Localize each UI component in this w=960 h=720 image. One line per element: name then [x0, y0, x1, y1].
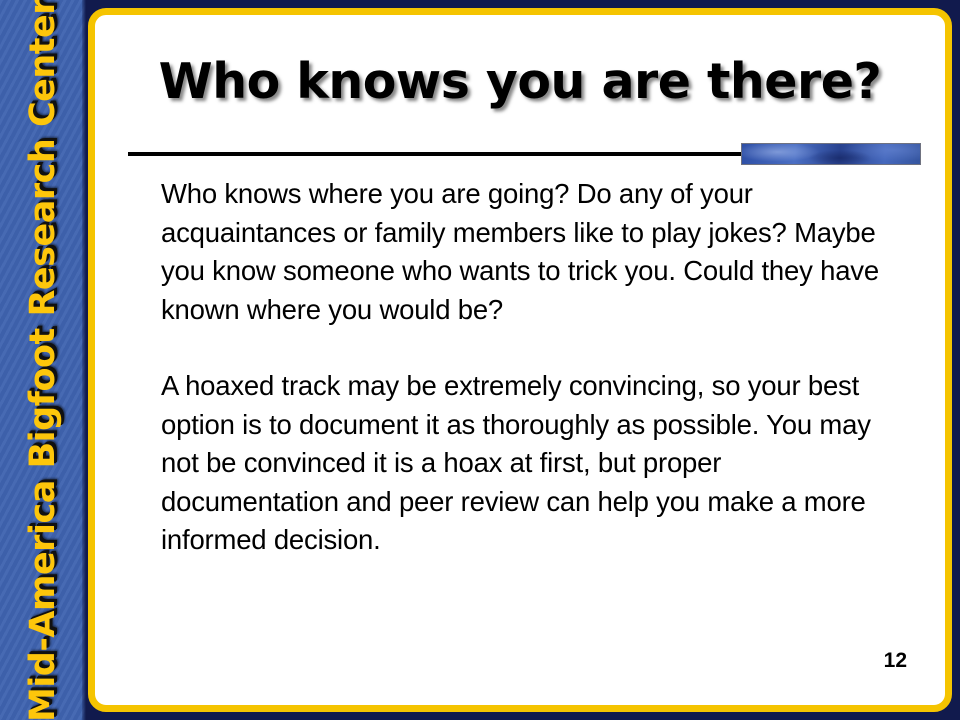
- slide-title: Who knows you are there?: [95, 53, 945, 110]
- body-paragraph-2: A hoaxed track may be extremely convinci…: [161, 367, 901, 560]
- page-number-label: 12: [884, 649, 907, 673]
- title-divider-rule: [128, 152, 818, 156]
- slide-content-area: Who knows you are there? Who knows where…: [95, 15, 945, 705]
- slide: Mid-America Bigfoot Research Center Who …: [0, 0, 960, 720]
- divider-accent-block-icon: [741, 143, 921, 165]
- slide-content-card: Who knows you are there? Who knows where…: [88, 8, 952, 712]
- branding-text-container: Mid-America Bigfoot Research Center: [0, 0, 86, 720]
- slide-body-text: Who knows where you are going? Do any of…: [161, 175, 901, 560]
- organization-name-label: Mid-America Bigfoot Research Center: [23, 0, 63, 720]
- body-paragraph-1: Who knows where you are going? Do any of…: [161, 175, 901, 329]
